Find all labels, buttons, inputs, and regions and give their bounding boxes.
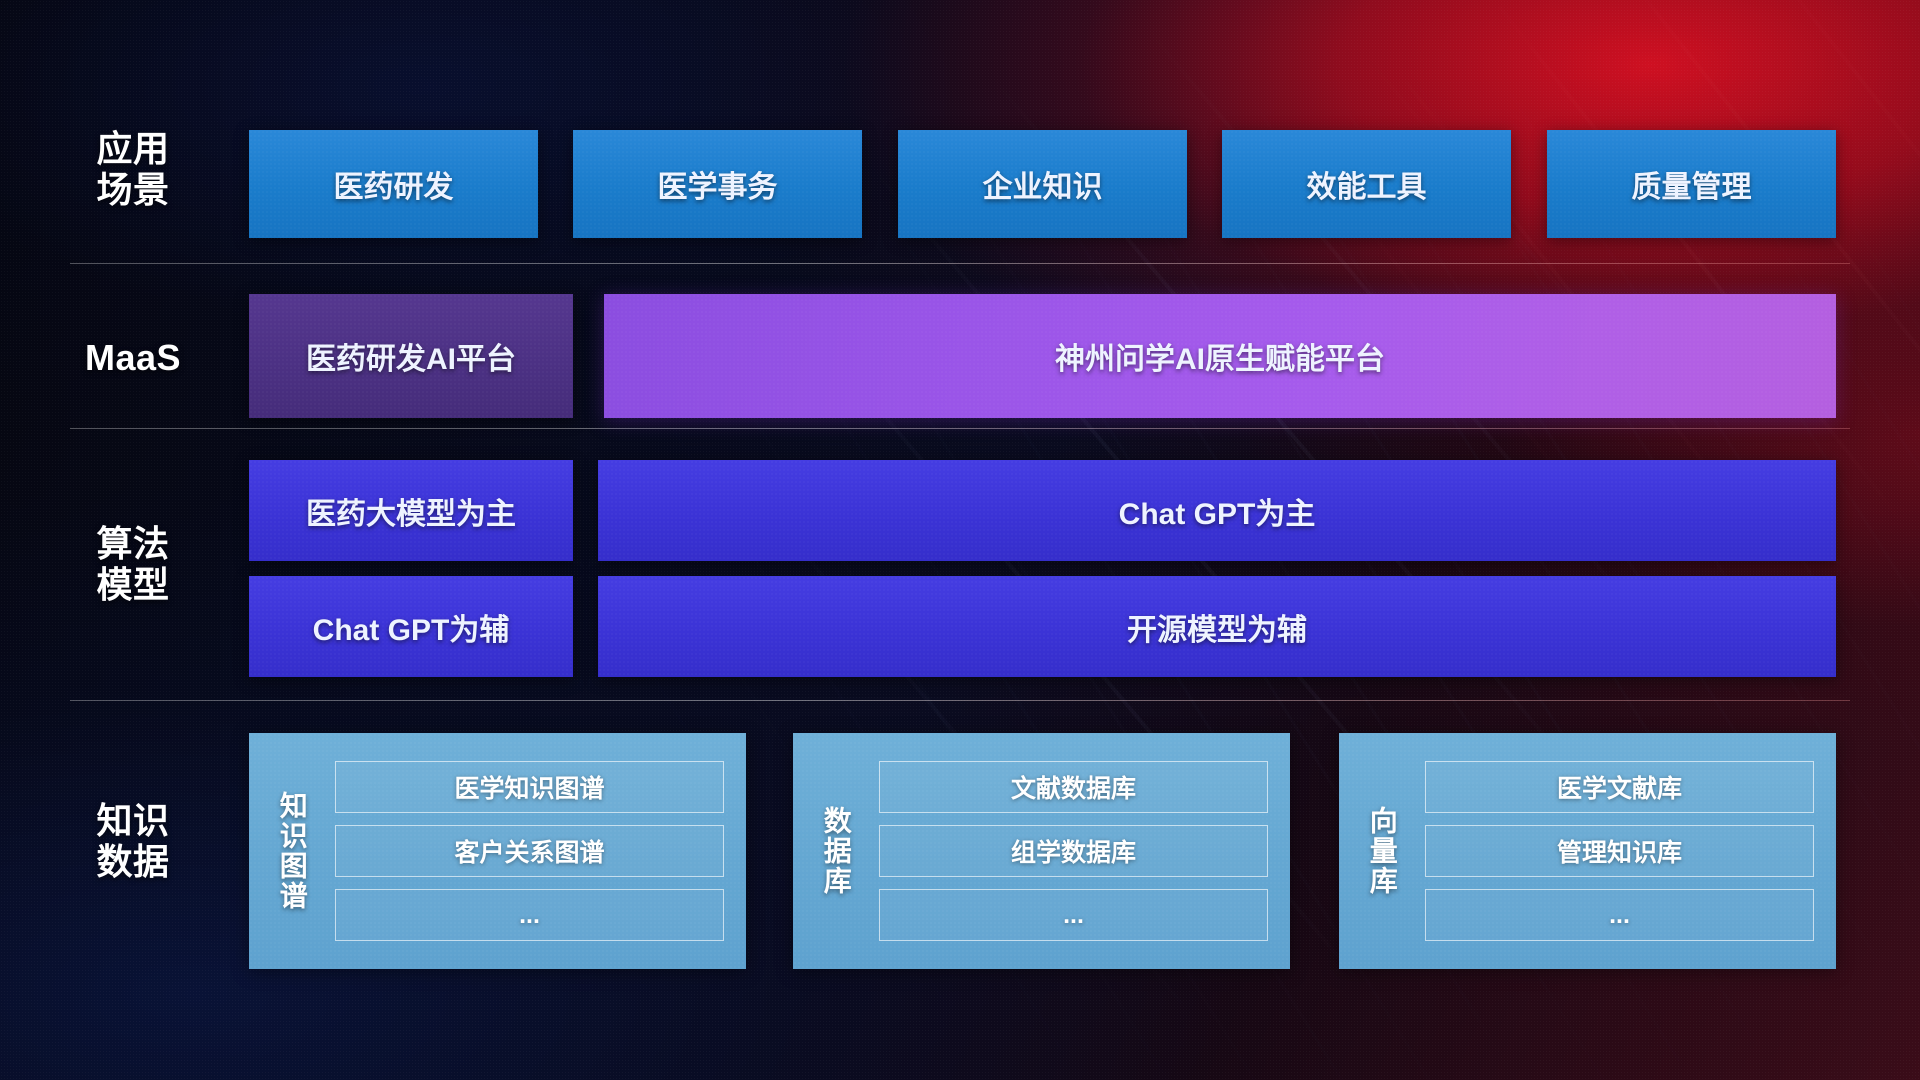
row-label-line: 知识 xyxy=(70,800,196,841)
architecture-diagram: 应用 场景 医药研发 医学事务 企业知识 效能工具 质量管理 MaaS 医药研发… xyxy=(0,0,1920,1080)
knowledge-item[interactable]: 医学知识图谱 xyxy=(335,761,724,813)
divider-line-2 xyxy=(70,428,1850,429)
algo-box-label: Chat GPT为辅 xyxy=(313,605,510,649)
app-box-1[interactable]: 医药研发 xyxy=(249,130,538,238)
maas-box-pharma-ai-platform[interactable]: 医药研发AI平台 xyxy=(249,294,573,418)
algo-box-opensource-secondary[interactable]: 开源模型为辅 xyxy=(598,576,1836,677)
knowledge-item[interactable]: 客户关系图谱 xyxy=(335,825,724,877)
row-label-line: 数据 xyxy=(70,841,196,882)
row-label-line: 算法 xyxy=(70,523,196,564)
app-box-5[interactable]: 质量管理 xyxy=(1547,130,1836,238)
algo-box-label: 医药大模型为主 xyxy=(306,489,516,533)
app-box-2[interactable]: 医学事务 xyxy=(573,130,862,238)
row-label-line: 应用 xyxy=(70,128,196,169)
divider-line-1 xyxy=(70,263,1850,264)
row-label-line: 场景 xyxy=(70,169,196,210)
app-box-label: 企业知识 xyxy=(983,162,1103,206)
knowledge-item[interactable]: 医学文献库 xyxy=(1425,761,1814,813)
maas-box-label: 医药研发AI平台 xyxy=(306,334,516,378)
knowledge-panel-title-graph: 知识图谱 xyxy=(249,733,335,969)
algo-box-label: Chat GPT为主 xyxy=(1119,489,1316,533)
knowledge-item[interactable]: 管理知识库 xyxy=(1425,825,1814,877)
knowledge-item[interactable]: ... xyxy=(879,889,1268,941)
app-box-label: 质量管理 xyxy=(1632,162,1752,206)
row-label-algorithm-model: 算法 模型 xyxy=(70,523,196,605)
row-label-line: MaaS xyxy=(70,337,196,378)
row-label-knowledge-data: 知识 数据 xyxy=(70,800,196,882)
knowledge-panel-vector[interactable]: 向量库 医学文献库 管理知识库 ... xyxy=(1339,733,1836,969)
knowledge-item[interactable]: ... xyxy=(335,889,724,941)
knowledge-item[interactable]: 文献数据库 xyxy=(879,761,1268,813)
knowledge-panel-graph[interactable]: 知识图谱 医学知识图谱 客户关系图谱 ... xyxy=(249,733,746,969)
slide-canvas: 应用 场景 医药研发 医学事务 企业知识 效能工具 质量管理 MaaS 医药研发… xyxy=(0,0,1920,1080)
knowledge-panel-title-database: 数据库 xyxy=(793,733,879,969)
row-label-application-scenarios: 应用 场景 xyxy=(70,128,196,210)
knowledge-panel-database[interactable]: 数据库 文献数据库 组学数据库 ... xyxy=(793,733,1290,969)
algo-box-chatgpt-secondary[interactable]: Chat GPT为辅 xyxy=(249,576,573,677)
app-box-label: 医药研发 xyxy=(334,162,454,206)
knowledge-item[interactable]: ... xyxy=(1425,889,1814,941)
divider-line-3 xyxy=(70,700,1850,701)
row-label-maas: MaaS xyxy=(70,337,196,378)
knowledge-panel-title-vector: 向量库 xyxy=(1339,733,1425,969)
algo-box-pharma-llm-primary[interactable]: 医药大模型为主 xyxy=(249,460,573,561)
app-box-3[interactable]: 企业知识 xyxy=(898,130,1187,238)
algo-box-label: 开源模型为辅 xyxy=(1127,605,1307,649)
maas-box-shenzhou-wenxue-platform[interactable]: 神州问学AI原生赋能平台 xyxy=(604,294,1836,418)
algo-box-chatgpt-primary[interactable]: Chat GPT为主 xyxy=(598,460,1836,561)
knowledge-item[interactable]: 组学数据库 xyxy=(879,825,1268,877)
app-box-4[interactable]: 效能工具 xyxy=(1222,130,1511,238)
app-box-label: 效能工具 xyxy=(1307,162,1427,206)
row-label-line: 模型 xyxy=(70,564,196,605)
maas-box-label: 神州问学AI原生赋能平台 xyxy=(1055,334,1385,378)
app-box-label: 医学事务 xyxy=(658,162,778,206)
